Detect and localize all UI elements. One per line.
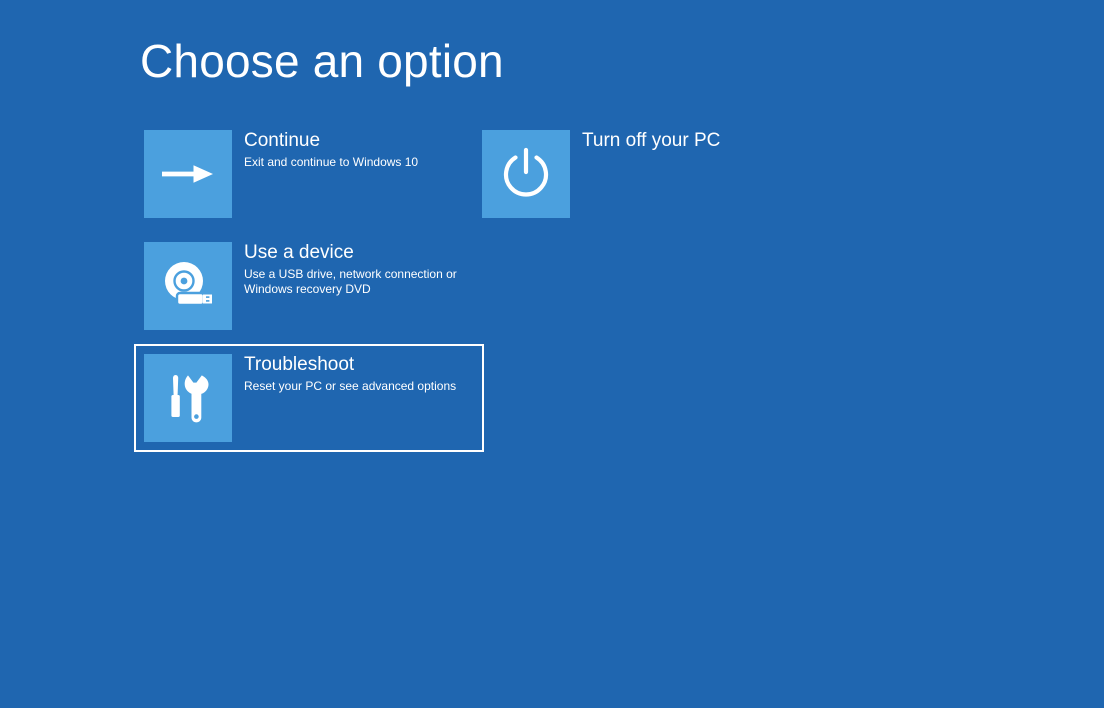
power-icon [500,147,552,201]
disc-usb-icon [159,260,217,312]
option-troubleshoot-tile [144,354,232,442]
option-turn-off-your-pc[interactable]: Turn off your PC [472,120,822,228]
option-use-a-device-description: Use a USB drive, network connection or W… [244,267,459,297]
option-continue-text: Continue Exit and continue to Windows 10 [244,130,474,170]
option-use-a-device-title: Use a device [244,242,474,264]
option-troubleshoot-description: Reset your PC or see advanced options [244,379,459,394]
arrow-right-icon [160,152,216,196]
option-troubleshoot[interactable]: Troubleshoot Reset your PC or see advanc… [134,344,484,452]
option-turn-off-your-pc-title: Turn off your PC [582,130,812,152]
option-troubleshoot-title: Troubleshoot [244,354,474,376]
option-use-a-device-text: Use a device Use a USB drive, network co… [244,242,474,297]
option-turn-off-your-pc-tile [482,130,570,218]
option-troubleshoot-text: Troubleshoot Reset your PC or see advanc… [244,354,474,394]
recovery-screen: Choose an option Continue Exit and conti… [0,0,1104,708]
option-continue-tile [144,130,232,218]
option-continue[interactable]: Continue Exit and continue to Windows 10 [134,120,484,228]
option-continue-title: Continue [244,130,474,152]
tools-icon [163,372,213,424]
option-use-a-device-tile [144,242,232,330]
option-use-a-device[interactable]: Use a device Use a USB drive, network co… [134,232,484,340]
option-continue-description: Exit and continue to Windows 10 [244,155,459,170]
page-title: Choose an option [140,36,504,87]
option-turn-off-your-pc-text: Turn off your PC [582,130,812,152]
